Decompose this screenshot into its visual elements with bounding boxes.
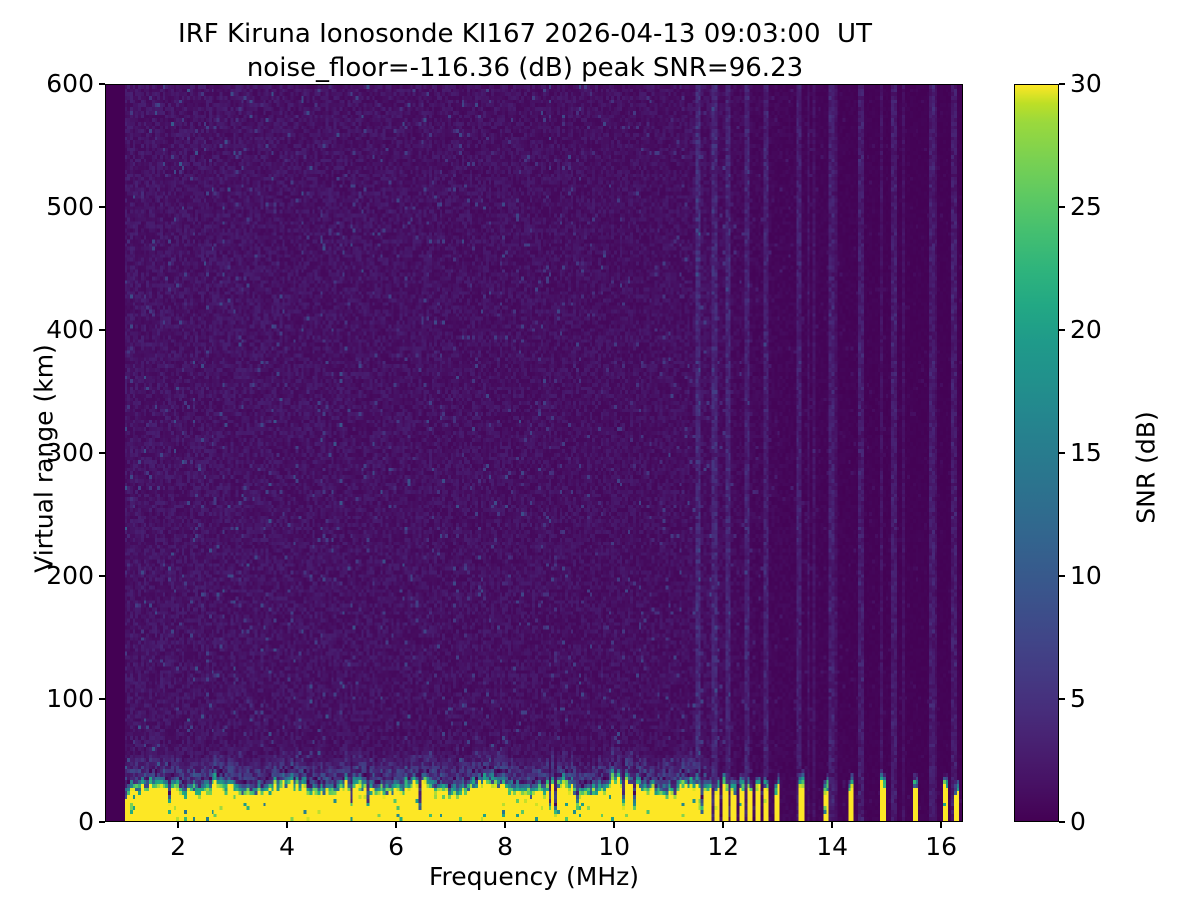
x-tick-mark	[395, 822, 397, 828]
colorbar-tick-label: 5	[1070, 682, 1086, 716]
x-tick-mark	[286, 822, 288, 828]
colorbar	[1014, 84, 1059, 822]
y-tick-mark	[99, 575, 105, 577]
x-tick-mark	[722, 822, 724, 828]
x-tick-label: 10	[574, 831, 654, 863]
ionogram-figure: IRF Kiruna Ionosonde KI167 2026-04-13 09…	[0, 0, 1200, 900]
colorbar-tick-label: 10	[1070, 559, 1102, 593]
y-tick-mark	[99, 821, 105, 823]
y-tick-mark	[99, 329, 105, 331]
y-axis-label: Virtual range (km)	[30, 319, 59, 599]
x-axis-label: Frequency (MHz)	[105, 862, 963, 891]
x-tick-label: 16	[901, 831, 981, 863]
y-tick-label: 500	[14, 191, 94, 223]
colorbar-tick-label: 25	[1070, 190, 1102, 224]
y-tick-mark	[99, 83, 105, 85]
colorbar-tick-mark	[1059, 206, 1065, 208]
y-tick-mark	[99, 206, 105, 208]
colorbar-tick-label: 20	[1070, 313, 1102, 347]
figure-title: IRF Kiruna Ionosonde KI167 2026-04-13 09…	[0, 18, 1050, 86]
colorbar-tick-label: 30	[1070, 67, 1102, 101]
colorbar-tick-mark	[1059, 329, 1065, 331]
x-tick-label: 8	[465, 831, 545, 863]
colorbar-tick-mark	[1059, 698, 1065, 700]
y-tick-mark	[99, 698, 105, 700]
x-tick-label: 2	[138, 831, 218, 863]
ionogram-heatmap	[106, 85, 962, 821]
colorbar-tick-mark	[1059, 83, 1065, 85]
colorbar-tick-label: 15	[1070, 436, 1102, 470]
colorbar-tick-mark	[1059, 575, 1065, 577]
x-tick-label: 4	[247, 831, 327, 863]
x-tick-mark	[831, 822, 833, 828]
y-tick-mark	[99, 452, 105, 454]
colorbar-label: SNR (dB)	[1132, 318, 1161, 618]
plot-axes	[105, 84, 963, 822]
x-tick-label: 14	[792, 831, 872, 863]
y-tick-label: 0	[14, 806, 94, 838]
colorbar-tick-label: 0	[1070, 805, 1086, 839]
y-tick-label: 600	[14, 68, 94, 100]
title-line-2: noise_floor=-116.36 (dB) peak SNR=96.23	[0, 52, 1050, 86]
x-tick-label: 12	[683, 831, 763, 863]
x-tick-mark	[940, 822, 942, 828]
x-tick-mark	[177, 822, 179, 828]
y-tick-label: 100	[14, 683, 94, 715]
colorbar-tick-mark	[1059, 821, 1065, 823]
colorbar-tick-mark	[1059, 452, 1065, 454]
title-line-1: IRF Kiruna Ionosonde KI167 2026-04-13 09…	[0, 18, 1050, 52]
x-tick-mark	[613, 822, 615, 828]
x-tick-mark	[504, 822, 506, 828]
x-tick-label: 6	[356, 831, 436, 863]
